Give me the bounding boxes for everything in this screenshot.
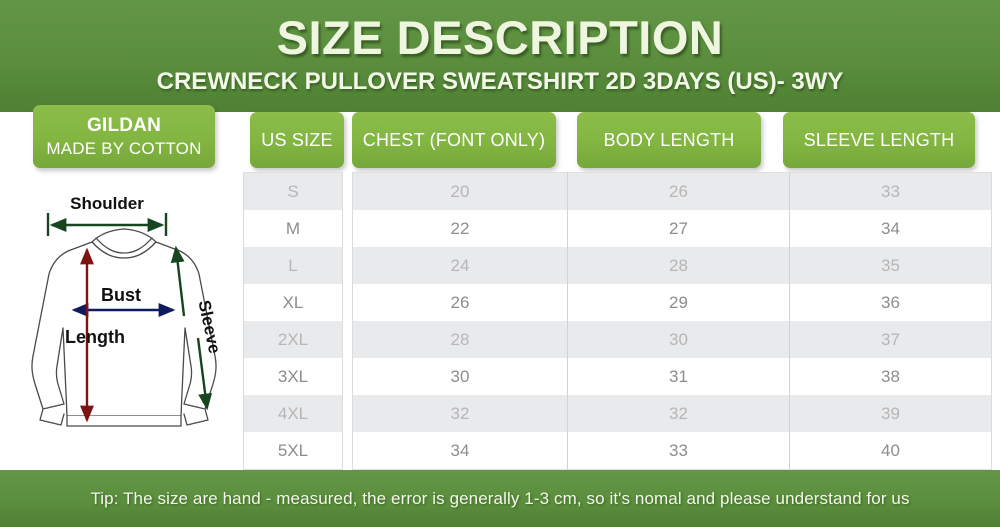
tip-text: Tip: The size are hand - measured, the e…	[90, 489, 909, 509]
cell-body: 26	[567, 172, 789, 210]
cell-sleeve: 39	[789, 395, 992, 432]
cell-sleeve: 38	[789, 358, 992, 395]
bust-label-text: Bust	[101, 285, 141, 305]
table-row: M 22 27 34	[243, 210, 992, 247]
table-row: S 20 26 33	[243, 172, 992, 210]
brand-tab: GILDAN MADE BY COTTON	[33, 105, 215, 168]
cell-us-size: L	[243, 247, 343, 284]
column-gap	[343, 284, 352, 321]
cell-chest: 34	[352, 432, 567, 470]
column-gap	[343, 358, 352, 395]
garment-diagram: Shoulder Bust Length Sleeve	[8, 188, 240, 443]
cell-body: 33	[567, 432, 789, 470]
cell-body: 27	[567, 210, 789, 247]
cell-chest: 28	[352, 321, 567, 358]
column-header-us-size: US SIZE	[250, 112, 344, 168]
shoulder-label-text: Shoulder	[70, 194, 144, 213]
cell-us-size: 2XL	[243, 321, 343, 358]
column-header-chest: CHEST (FONT ONLY)	[352, 112, 556, 168]
column-header-body-length: BODY LENGTH	[577, 112, 761, 168]
cell-body: 28	[567, 247, 789, 284]
cell-chest: 22	[352, 210, 567, 247]
table-row: 4XL 32 32 39	[243, 395, 992, 432]
column-header-sleeve-length: SLEEVE LENGTH	[783, 112, 975, 168]
footer-band: Tip: The size are hand - measured, the e…	[0, 470, 1000, 527]
cell-chest: 24	[352, 247, 567, 284]
column-gap	[343, 210, 352, 247]
header-band: SIZE DESCRIPTION CREWNECK PULLOVER SWEAT…	[0, 0, 1000, 112]
table-row: L 24 28 35	[243, 247, 992, 284]
page-title: SIZE DESCRIPTION	[0, 12, 1000, 64]
table-row: 5XL 34 33 40	[243, 432, 992, 470]
cell-sleeve: 35	[789, 247, 992, 284]
size-chart-page: SIZE DESCRIPTION CREWNECK PULLOVER SWEAT…	[0, 0, 1000, 527]
cell-us-size: S	[243, 172, 343, 210]
cell-sleeve: 33	[789, 172, 992, 210]
cell-us-size: 4XL	[243, 395, 343, 432]
cell-us-size: XL	[243, 284, 343, 321]
cell-chest: 30	[352, 358, 567, 395]
brand-material: MADE BY COTTON	[46, 137, 201, 160]
cell-us-size: 5XL	[243, 432, 343, 470]
column-gap	[343, 172, 352, 210]
cell-sleeve: 40	[789, 432, 992, 470]
page-subtitle: CREWNECK PULLOVER SWEATSHIRT 2D 3DAYS (U…	[0, 68, 1000, 96]
cell-chest: 32	[352, 395, 567, 432]
column-gap	[343, 432, 352, 470]
table-row: 3XL 30 31 38	[243, 358, 992, 395]
cell-body: 30	[567, 321, 789, 358]
brand-name: GILDAN	[87, 114, 161, 137]
cell-sleeve: 36	[789, 284, 992, 321]
column-gap	[343, 321, 352, 358]
cell-body: 32	[567, 395, 789, 432]
cell-us-size: 3XL	[243, 358, 343, 395]
size-table-container: S 20 26 33 M 22 27 34 L 24 28	[243, 172, 983, 457]
column-gap	[343, 247, 352, 284]
length-label-text: Length	[65, 327, 125, 347]
cell-sleeve: 34	[789, 210, 992, 247]
cell-body: 31	[567, 358, 789, 395]
table-row: 2XL 28 30 37	[243, 321, 992, 358]
size-table: S 20 26 33 M 22 27 34 L 24 28	[243, 172, 992, 470]
cell-sleeve: 37	[789, 321, 992, 358]
cell-chest: 26	[352, 284, 567, 321]
column-gap	[343, 395, 352, 432]
size-table-body: S 20 26 33 M 22 27 34 L 24 28	[243, 172, 992, 470]
cell-us-size: M	[243, 210, 343, 247]
table-row: XL 26 29 36	[243, 284, 992, 321]
cell-chest: 20	[352, 172, 567, 210]
cell-body: 29	[567, 284, 789, 321]
